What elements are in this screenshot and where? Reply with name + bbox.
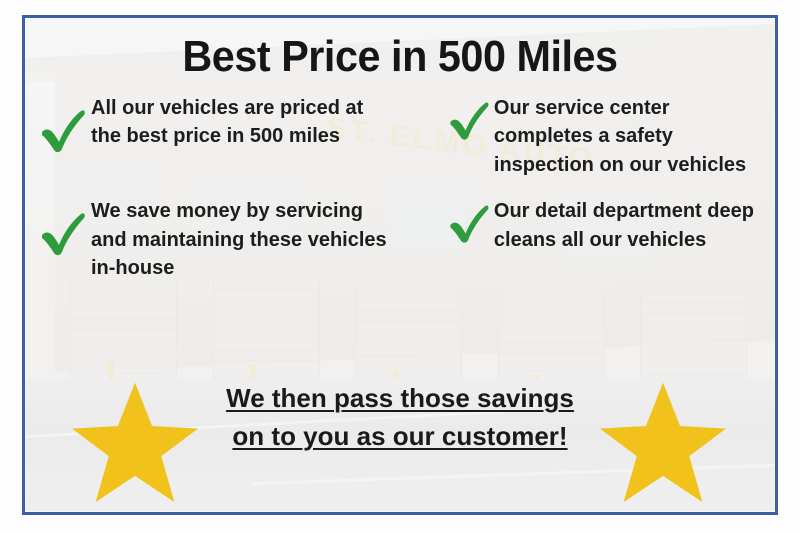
poster-content: Best Price in 500 Miles All our vehicles… [25, 18, 775, 512]
star-icon [597, 380, 729, 506]
list-item-label: We save money by servicing and maintaini… [91, 195, 391, 282]
list-item-label: All our vehicles are priced at the best … [91, 92, 391, 151]
page-title: Best Price in 500 Miles [48, 32, 753, 82]
benefits-list: All our vehicles are priced at the best … [25, 92, 775, 282]
list-item: All our vehicles are priced at the best … [25, 92, 446, 156]
list-item-label: Our detail department deep cleans all ou… [494, 195, 762, 254]
list-item: Our detail department deep cleans all ou… [446, 195, 775, 254]
poster-frame: ST. ELMO AUTO Best Price in 500 Miles [22, 15, 778, 515]
benefits-row: We save money by servicing and maintaini… [25, 195, 775, 282]
tagline: We then pass those savings on to you as … [210, 380, 590, 455]
check-icon [446, 96, 494, 144]
star-icon [69, 380, 201, 506]
list-item: We save money by servicing and maintaini… [25, 195, 446, 282]
promotional-poster: ST. ELMO AUTO Best Price in 500 Miles [0, 0, 800, 533]
check-icon [37, 104, 91, 156]
list-item-label: Our service center completes a safety in… [494, 92, 762, 179]
check-icon [37, 207, 91, 259]
benefits-row: All our vehicles are priced at the best … [25, 92, 775, 179]
list-item: Our service center completes a safety in… [446, 92, 775, 179]
check-icon [446, 199, 494, 247]
